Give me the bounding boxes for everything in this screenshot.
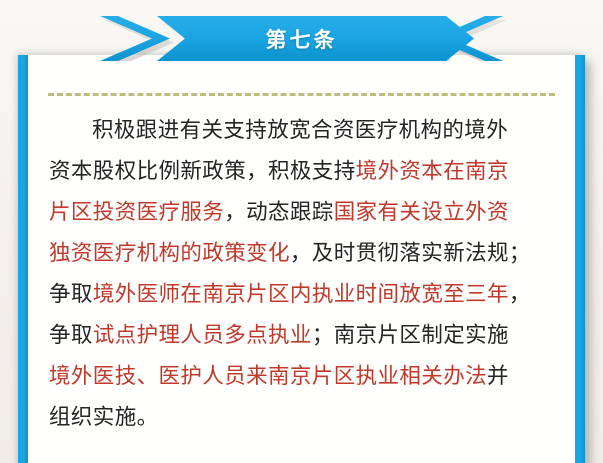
banner-title: 第七条: [0, 16, 603, 61]
highlighted-text: 境外资本在南京: [356, 159, 509, 184]
article-line: 积极跟进有关支持放宽合资医疗机构的境外: [49, 110, 561, 151]
highlighted-text: 片区投资医疗服务: [49, 200, 224, 225]
article-line: 组织实施。: [49, 397, 561, 438]
highlighted-text: 境外医师在南京片区内执业时间放宽至三年: [93, 282, 509, 307]
body-text: 争取: [49, 282, 93, 307]
card-right-rail: [575, 55, 585, 463]
highlighted-text: 境外医技、医护人员来南京片区执业相关办法: [49, 364, 487, 389]
highlighted-text: 国家有关设立外资: [334, 200, 509, 225]
body-text: ，动态跟踪: [224, 200, 334, 225]
body-text: 积极跟进有关支持放宽合资医疗机构的境外: [92, 118, 508, 143]
card-left-rail: [18, 55, 28, 463]
article-line: 资本股权比例新政策，积极支持境外资本在南京: [49, 151, 561, 192]
body-text: ；南京片区制定实施: [312, 323, 509, 348]
body-text: 并: [487, 364, 509, 389]
article-line: 争取试点护理人员多点执业；南京片区制定实施: [49, 315, 561, 356]
article-line: 独资医疗机构的政策变化，及时贯彻落实新法规；: [49, 233, 561, 274]
article-body: 积极跟进有关支持放宽合资医疗机构的境外资本股权比例新政策，积极支持境外资本在南京…: [49, 110, 561, 438]
article-line: 境外医技、医护人员来南京片区执业相关办法并: [49, 356, 561, 397]
dashed-divider: [48, 93, 555, 96]
content-card: 积极跟进有关支持放宽合资医疗机构的境外资本股权比例新政策，积极支持境外资本在南京…: [18, 55, 585, 463]
card-sheet: 积极跟进有关支持放宽合资医疗机构的境外资本股权比例新政策，积极支持境外资本在南京…: [28, 55, 575, 463]
body-text: 资本股权比例新政策，积极支持: [49, 159, 356, 184]
highlighted-text: 试点护理人员多点执业: [93, 323, 312, 348]
body-text: 组织实施。: [49, 405, 159, 430]
body-text: ，及时贯彻落实新法规；: [290, 241, 531, 266]
article-line: 片区投资医疗服务，动态跟踪国家有关设立外资: [49, 192, 561, 233]
highlighted-text: 独资医疗机构的政策变化: [49, 241, 290, 266]
article-line: 争取境外医师在南京片区内执业时间放宽至三年，: [49, 274, 561, 315]
section-banner: 第七条: [0, 16, 603, 61]
poster-page: 积极跟进有关支持放宽合资医疗机构的境外资本股权比例新政策，积极支持境外资本在南京…: [0, 0, 603, 463]
body-text: 争取: [49, 323, 93, 348]
body-text: ，: [509, 282, 531, 307]
